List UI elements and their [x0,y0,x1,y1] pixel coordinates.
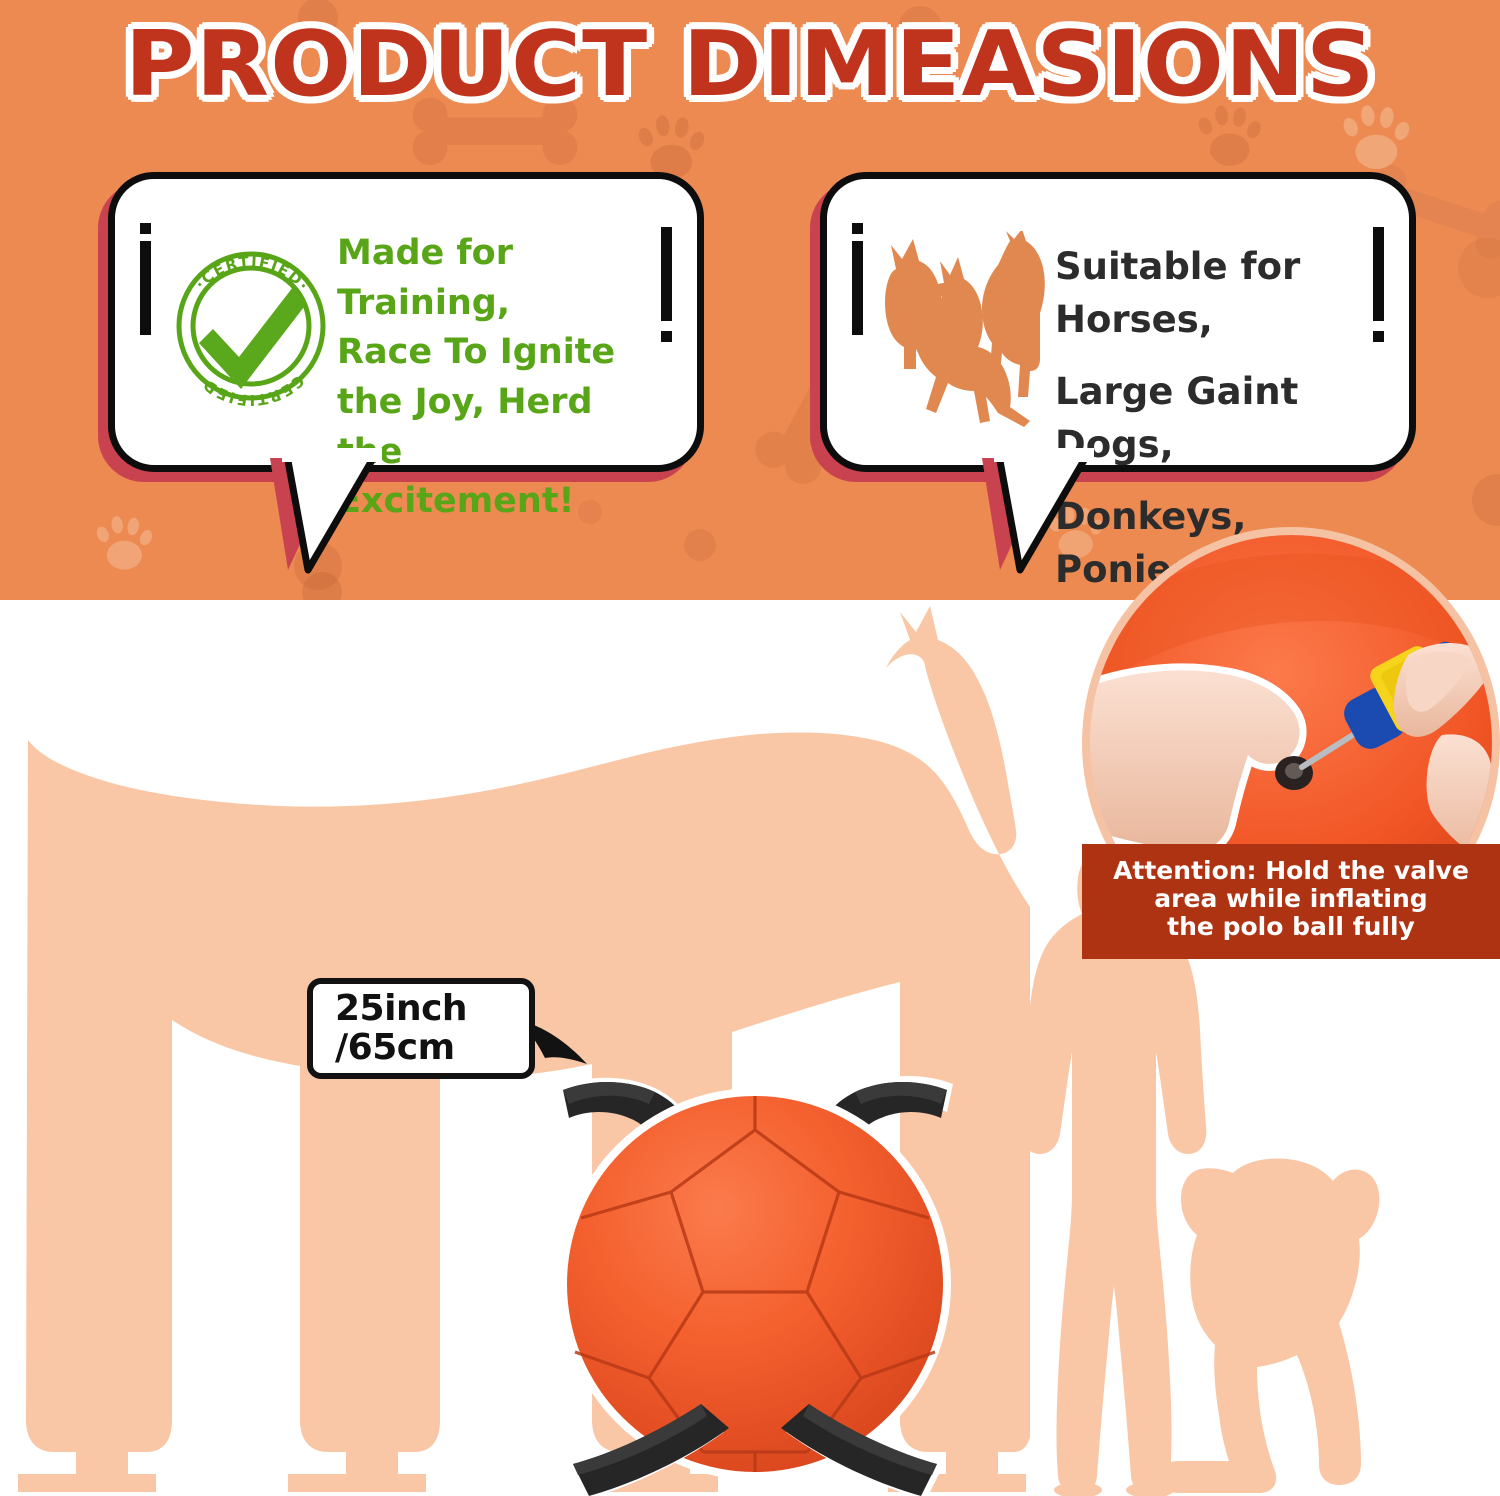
product-dimensions-infographic: 25inch /65cm [0,0,1500,1496]
ball-graphic [545,1052,965,1496]
bubble-line-1: Suitable for Horses, [1055,241,1385,346]
page-title-wrap: PRODUCT DIMEASIONS [0,20,1500,110]
bubble-suitable-for: Suitable for Horses, Large Gaint Dogs, D… [820,172,1416,472]
header-banner: PRODUCT DIMEASIONS [0,0,1500,600]
bubble-body: ·CERTIFIED· ·CERTIFIED· Made for Trainin… [108,172,704,472]
inflatable-polo-ball [545,1052,965,1496]
size-line-inch: 25inch [335,990,529,1028]
attention-caption: Attention: Hold the valve area while inf… [1082,844,1500,959]
quote-bracket-dot-left [140,223,151,234]
bubble-line-1: Made for Training, [337,229,657,328]
certified-check-badge-icon: ·CERTIFIED· ·CERTIFIED· [171,241,331,416]
dog-silhouette [1145,1155,1395,1496]
attention-caption-line-3: the polo ball fully [1092,913,1490,941]
quote-bracket-right [1373,227,1384,321]
quote-bracket-dot-right [1373,331,1384,342]
quote-bracket-right [661,227,672,321]
bubble-line-2: Race To Ignite [337,328,657,378]
bubble-body: Suitable for Horses, Large Gaint Dogs, D… [820,172,1416,472]
attention-caption-line-2: area while inflating [1092,885,1490,913]
bubble-tail [260,448,410,578]
size-callout: 25inch /65cm [307,978,535,1079]
attention-caption-line-1: Attention: Hold the valve [1092,857,1490,885]
bubble-made-for-training: ·CERTIFIED· ·CERTIFIED· Made for Trainin… [108,172,704,472]
quote-bracket-left [852,241,863,335]
page-title: PRODUCT DIMEASIONS [125,20,1376,110]
quote-bracket-left [140,241,151,335]
paw-print-icon [636,114,707,178]
paw-print-icon [95,515,155,569]
size-callout-box: 25inch /65cm [307,978,535,1079]
horses-donkey-silhouette-icon [882,231,1072,436]
attention-inflation-callout: Attention: Hold the valve area while inf… [1082,527,1500,959]
quote-bracket-dot-left [852,223,863,234]
quote-bracket-dot-right [661,331,672,342]
size-line-cm: /65cm [335,1029,529,1067]
